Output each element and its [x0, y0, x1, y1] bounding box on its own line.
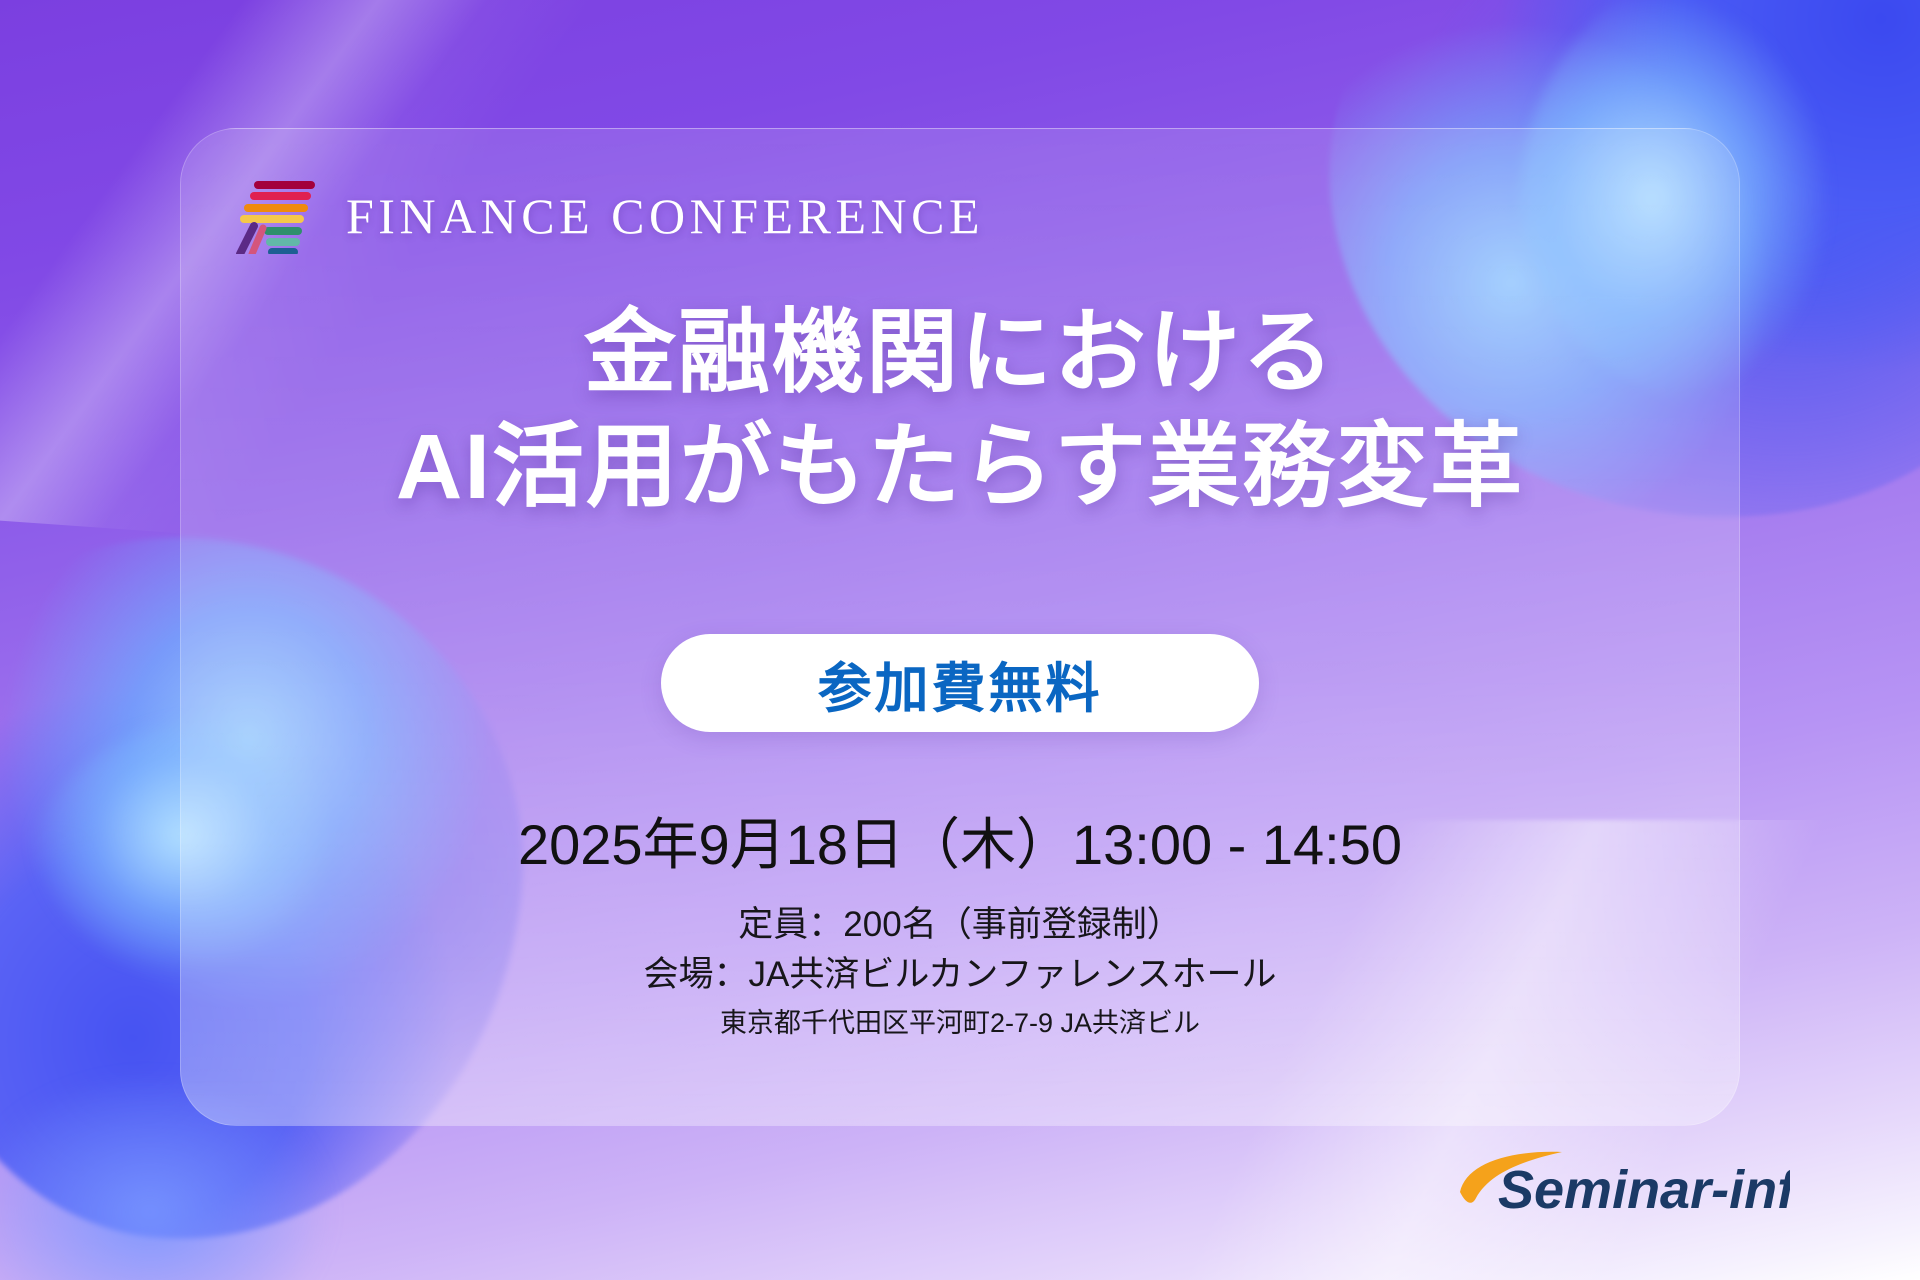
event-datetime: 2025年9月18日（木）13:00 - 14:50: [0, 800, 1920, 881]
finance-conference-logo-icon: [232, 178, 318, 254]
seminar-info-logo: Seminar-info: [1450, 1146, 1790, 1228]
event-venue: 会場：JA共済ビルカンファレンスホール: [0, 950, 1920, 1000]
brand-name: FINANCE CONFERENCE: [346, 187, 984, 245]
headline-line-2: AI活用がもたらす業務変革: [0, 410, 1920, 524]
event-poster: FINANCE CONFERENCE 金融機関における AI活用がもたらす業務変…: [0, 0, 1920, 1280]
page-title: 金融機関における AI活用がもたらす業務変革: [0, 296, 1920, 524]
status-badge-label: 参加費無料: [818, 644, 1103, 723]
headline-line-1: 金融機関における: [0, 296, 1920, 410]
brand-lockup: FINANCE CONFERENCE: [232, 178, 984, 254]
status-badge-free: 参加費無料: [661, 634, 1259, 732]
event-address: 東京都千代田区平河町2-7-9 JA共済ビル: [0, 1003, 1920, 1044]
seminar-info-wordmark: Seminar-info: [1498, 1160, 1790, 1220]
event-details: 定員：200名（事前登録制） 会場：JA共済ビルカンファレンスホール 東京都千代…: [0, 900, 1920, 1043]
event-capacity: 定員：200名（事前登録制）: [0, 900, 1920, 950]
